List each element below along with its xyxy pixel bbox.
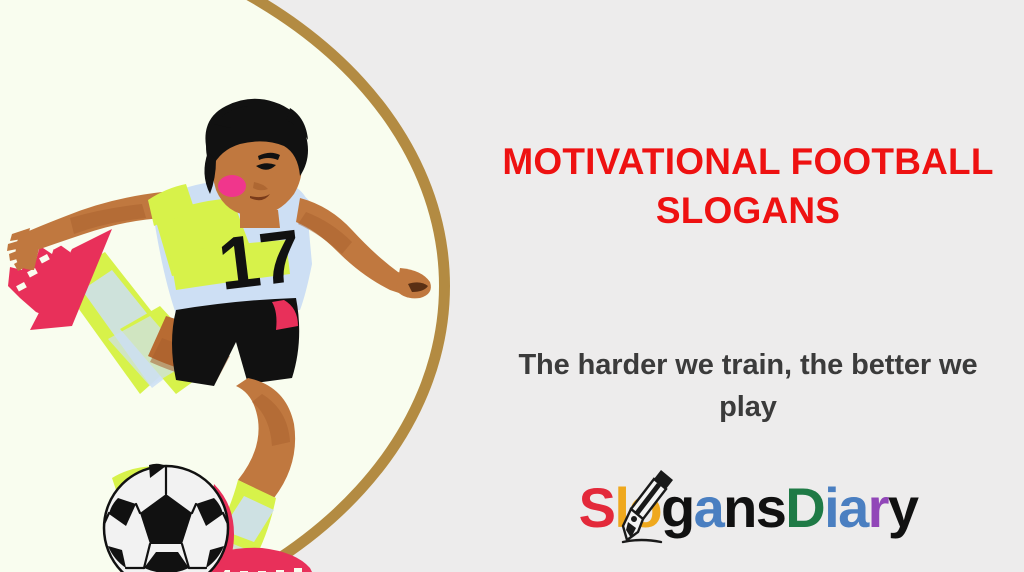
slogan-text: The harder we train, the better we play [502,345,994,429]
logo-letter-10: r [868,480,888,536]
soccer-ball [104,464,234,572]
logo-letter-5: n [723,480,756,536]
page-title: MOTIVATIONAL FOOTBALL SLOGANS [472,137,1024,236]
logo-letters: SlogansDiary [579,480,918,536]
football-player-illustration: 17 [0,94,470,572]
logo-letter-2: o [628,480,661,536]
logo-letter-3: g [661,480,694,536]
logo-letter-1: l [614,480,628,536]
logo-letter-4: a [694,480,724,536]
poster-canvas: 17 [0,0,1024,572]
right-arm-group [296,198,431,298]
logo-letter-11: y [888,480,918,536]
logo-letter-0: S [579,480,615,536]
logo-letter-8: i [824,480,838,536]
text-column: MOTIVATIONAL FOOTBALL SLOGANS The harder… [472,0,1024,572]
shorts-group [172,298,299,386]
slogansdiary-logo[interactable]: SlogansDiary [492,480,1004,536]
logo-letter-9: a [838,480,868,536]
logo-letter-6: s [756,480,786,536]
logo-letter-7: D [785,480,824,536]
